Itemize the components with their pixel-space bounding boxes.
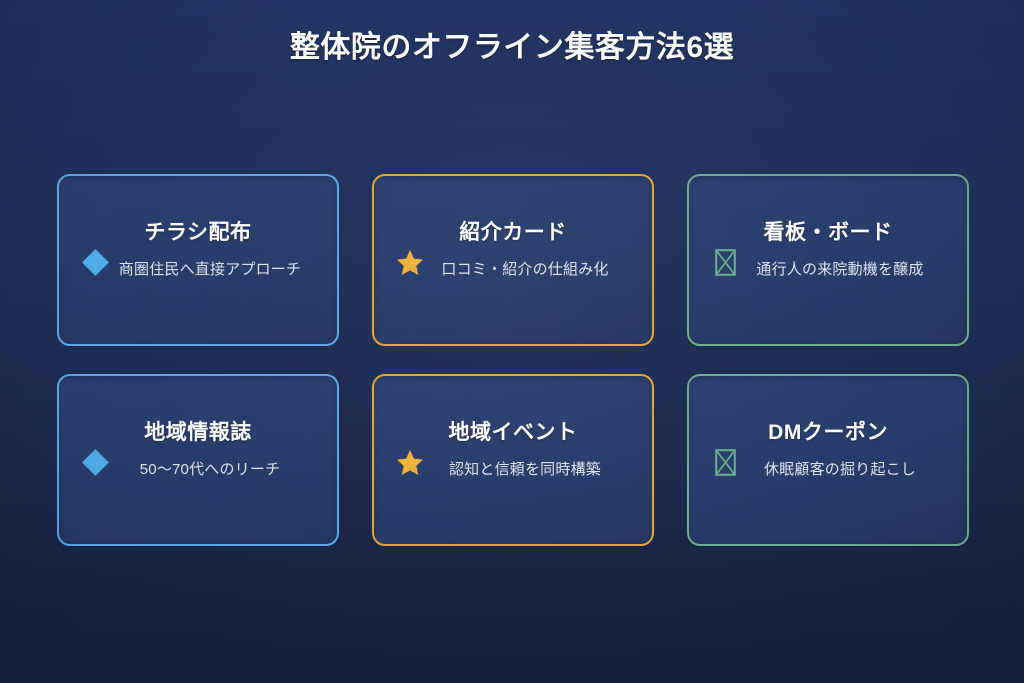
page-title-container: 整体院のオフライン集客方法6選 bbox=[0, 28, 1024, 67]
card-kanban-board[interactable]: 看板・ボード 通行人の来院動機を醸成 bbox=[687, 174, 969, 346]
card-description: 商圏住民へ直接アプローチ bbox=[95, 260, 301, 280]
card-chiiki-event[interactable]: 地域イベント 認知と信頼を同時構築 bbox=[372, 374, 654, 546]
card-description: 50〜70代へのリーチ bbox=[116, 460, 281, 480]
card-chirashi-haifu[interactable]: チラシ配布 商圏住民へ直接アプローチ bbox=[57, 174, 339, 346]
card-description: 休眠顧客の掘り起こし bbox=[740, 460, 916, 480]
card-title: チラシ配布 bbox=[144, 220, 251, 245]
card-content: チラシ配布 商圏住民へ直接アプローチ bbox=[59, 176, 337, 344]
card-title: 紹介カード bbox=[459, 220, 567, 245]
card-content: 看板・ボード 通行人の来院動機を醸成 bbox=[689, 176, 967, 344]
card-description: 通行人の来院動機を醸成 bbox=[732, 260, 923, 280]
card-shokai-card[interactable]: 紹介カード 口コミ・紹介の仕組み化 bbox=[372, 174, 654, 346]
card-dm-coupon[interactable]: DMクーポン 休眠顧客の掘り起こし bbox=[687, 374, 969, 546]
card-title: 地域イベント bbox=[449, 420, 578, 445]
card-content: 地域情報誌 50〜70代へのリーチ bbox=[59, 376, 337, 544]
card-grid: チラシ配布 商圏住民へ直接アプローチ 紹介カード 口コミ・紹介の仕組み化 bbox=[57, 174, 967, 546]
card-description: 認知と信頼を同時構築 bbox=[425, 460, 601, 480]
card-title: 看板・ボード bbox=[764, 220, 893, 245]
card-content: 紹介カード 口コミ・紹介の仕組み化 bbox=[374, 176, 652, 344]
card-title: 地域情報誌 bbox=[144, 420, 252, 445]
card-title: DMクーポン bbox=[768, 420, 888, 445]
slide-root: 整体院のオフライン集客方法6選 チラシ配布 商圏住民へ直接アプローチ bbox=[0, 0, 1024, 683]
page-title: 整体院のオフライン集客方法6選 bbox=[0, 28, 1024, 67]
card-content: DMクーポン 休眠顧客の掘り起こし bbox=[689, 376, 967, 544]
card-chiiki-johoshi[interactable]: 地域情報誌 50〜70代へのリーチ bbox=[57, 374, 339, 546]
card-description: 口コミ・紹介の仕組み化 bbox=[417, 260, 608, 280]
card-content: 地域イベント 認知と信頼を同時構築 bbox=[374, 376, 652, 544]
